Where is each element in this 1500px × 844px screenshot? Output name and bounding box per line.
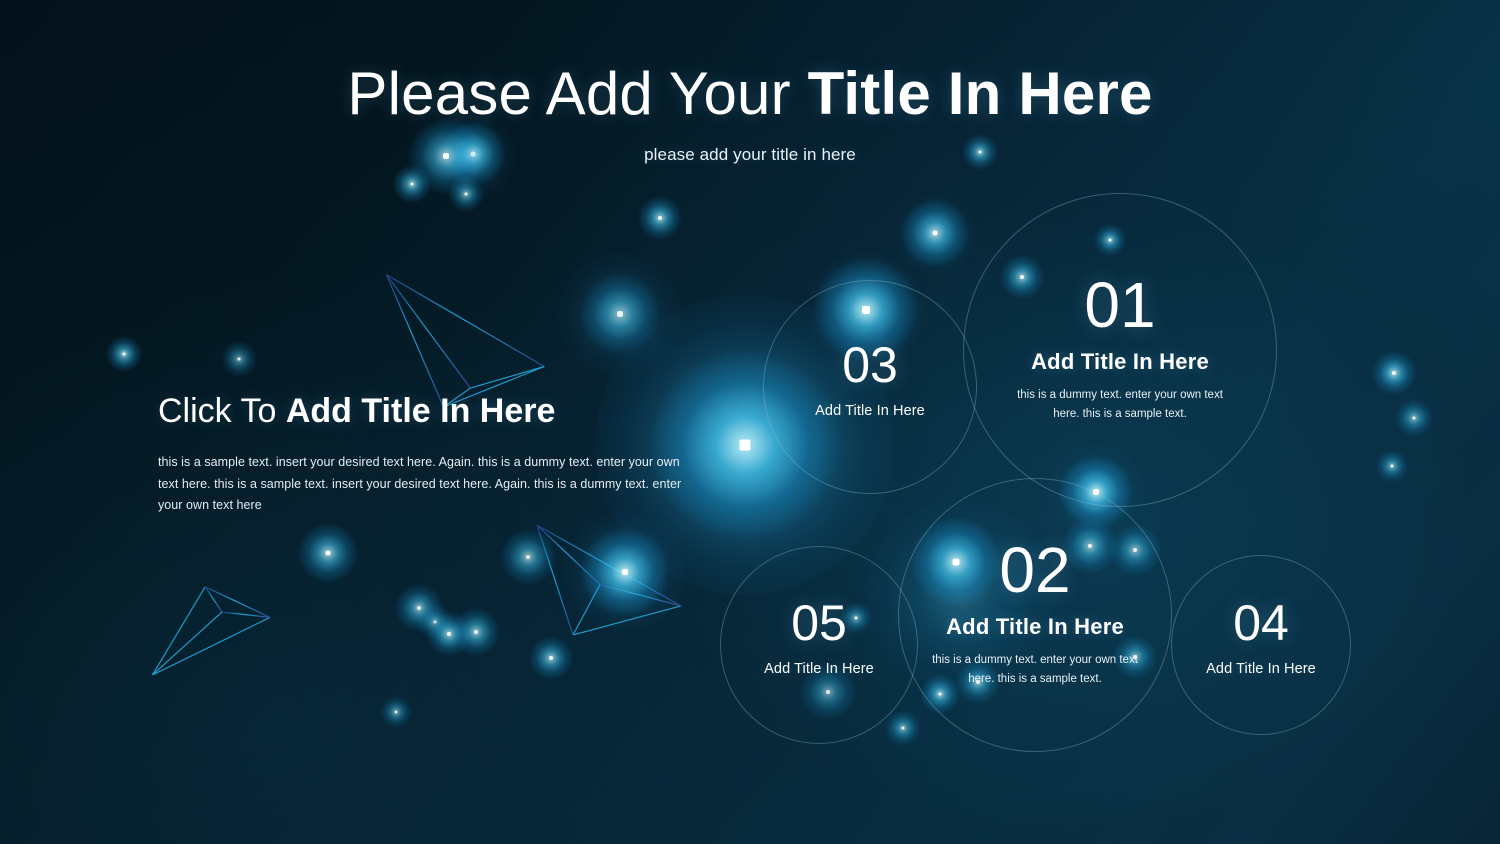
particle-core [123, 353, 126, 356]
wireframe-tetrahedron-middle [534, 523, 684, 635]
particle-core [622, 569, 628, 575]
particle-core [933, 231, 938, 236]
glow-particle [885, 710, 921, 746]
particle-core [549, 656, 553, 660]
particle-core [740, 440, 751, 451]
ambient-glow [565, 512, 685, 632]
circle-number-03: 03 [720, 340, 1020, 390]
particle-core [902, 727, 905, 730]
particle-core [1413, 417, 1416, 420]
glow-particle [529, 636, 573, 680]
left-heading-light: Click To [158, 392, 286, 430]
glow-particle [901, 199, 969, 267]
ambient-glow [558, 253, 682, 377]
page-subtitle: please add your title in here [0, 145, 1500, 165]
circle-description-01: this is a dummy text. enter your own tex… [1014, 386, 1226, 423]
glow-particle [380, 696, 412, 728]
circle-title-04: Add Title In Here [1111, 661, 1411, 677]
page-title-bold: Title In Here [808, 60, 1153, 127]
glow-particle [1376, 450, 1408, 482]
left-body-text: this is a sample text. insert your desir… [158, 452, 703, 517]
particle-core [447, 632, 451, 636]
particle-core [417, 606, 421, 610]
circle-title-05: Add Title In Here [669, 661, 969, 677]
particle-core [411, 183, 414, 186]
glow-particle [393, 165, 431, 203]
ambient-glow [895, 194, 975, 274]
glow-particle [581, 528, 669, 616]
particle-core [474, 630, 478, 634]
glow-particle [395, 584, 443, 632]
particle-core [658, 216, 662, 220]
page-title: Please Add Your Title In Here [0, 62, 1500, 127]
particle-core [526, 555, 530, 559]
glow-particle [500, 529, 556, 585]
circle-content-03: 03Add Title In Here [720, 340, 1020, 419]
circle-title-03: Add Title In Here [720, 403, 1020, 419]
particle-core [1391, 465, 1394, 468]
circle-item-03[interactable]: 03Add Title In Here [763, 280, 977, 494]
glow-particle [298, 523, 358, 583]
particle-core [395, 711, 398, 714]
glow-particle [106, 336, 142, 372]
left-heading-bold: Add Title In Here [286, 392, 556, 430]
glow-particle [452, 608, 500, 656]
glow-particle [448, 176, 484, 212]
particle-core [617, 311, 623, 317]
wireframe-tetrahedron-lower [150, 585, 270, 675]
circle-number-05: 05 [669, 598, 969, 648]
page-title-light: Please Add Your [347, 60, 807, 127]
glow-particle [638, 196, 682, 240]
header: Please Add Your Title In Here please add… [0, 62, 1500, 165]
particle-core [1392, 371, 1396, 375]
circle-number-01: 01 [970, 273, 1270, 337]
glow-particle [1395, 399, 1433, 437]
circle-number-02: 02 [885, 538, 1185, 602]
circle-item-05[interactable]: 05Add Title In Here [720, 546, 918, 744]
circle-content-04: 04Add Title In Here [1111, 598, 1411, 677]
glow-particle [427, 612, 471, 656]
glow-particle [417, 604, 453, 640]
circle-number-04: 04 [1111, 598, 1411, 648]
circle-item-04[interactable]: 04Add Title In Here [1171, 555, 1351, 735]
circle-content-05: 05Add Title In Here [669, 598, 969, 677]
left-heading: Click To Add Title In Here [158, 392, 703, 430]
glow-particle [1372, 351, 1416, 395]
wireframe-tetrahedron-upper [383, 272, 551, 407]
particle-core [326, 551, 331, 556]
left-text-block: Click To Add Title In Here this is a sam… [158, 392, 703, 517]
slide-canvas: Please Add Your Title In Here please add… [0, 0, 1500, 844]
particle-core [238, 358, 241, 361]
particle-core [434, 621, 437, 624]
glow-particle [580, 274, 660, 354]
glow-particle [221, 341, 257, 377]
particle-core [465, 193, 468, 196]
